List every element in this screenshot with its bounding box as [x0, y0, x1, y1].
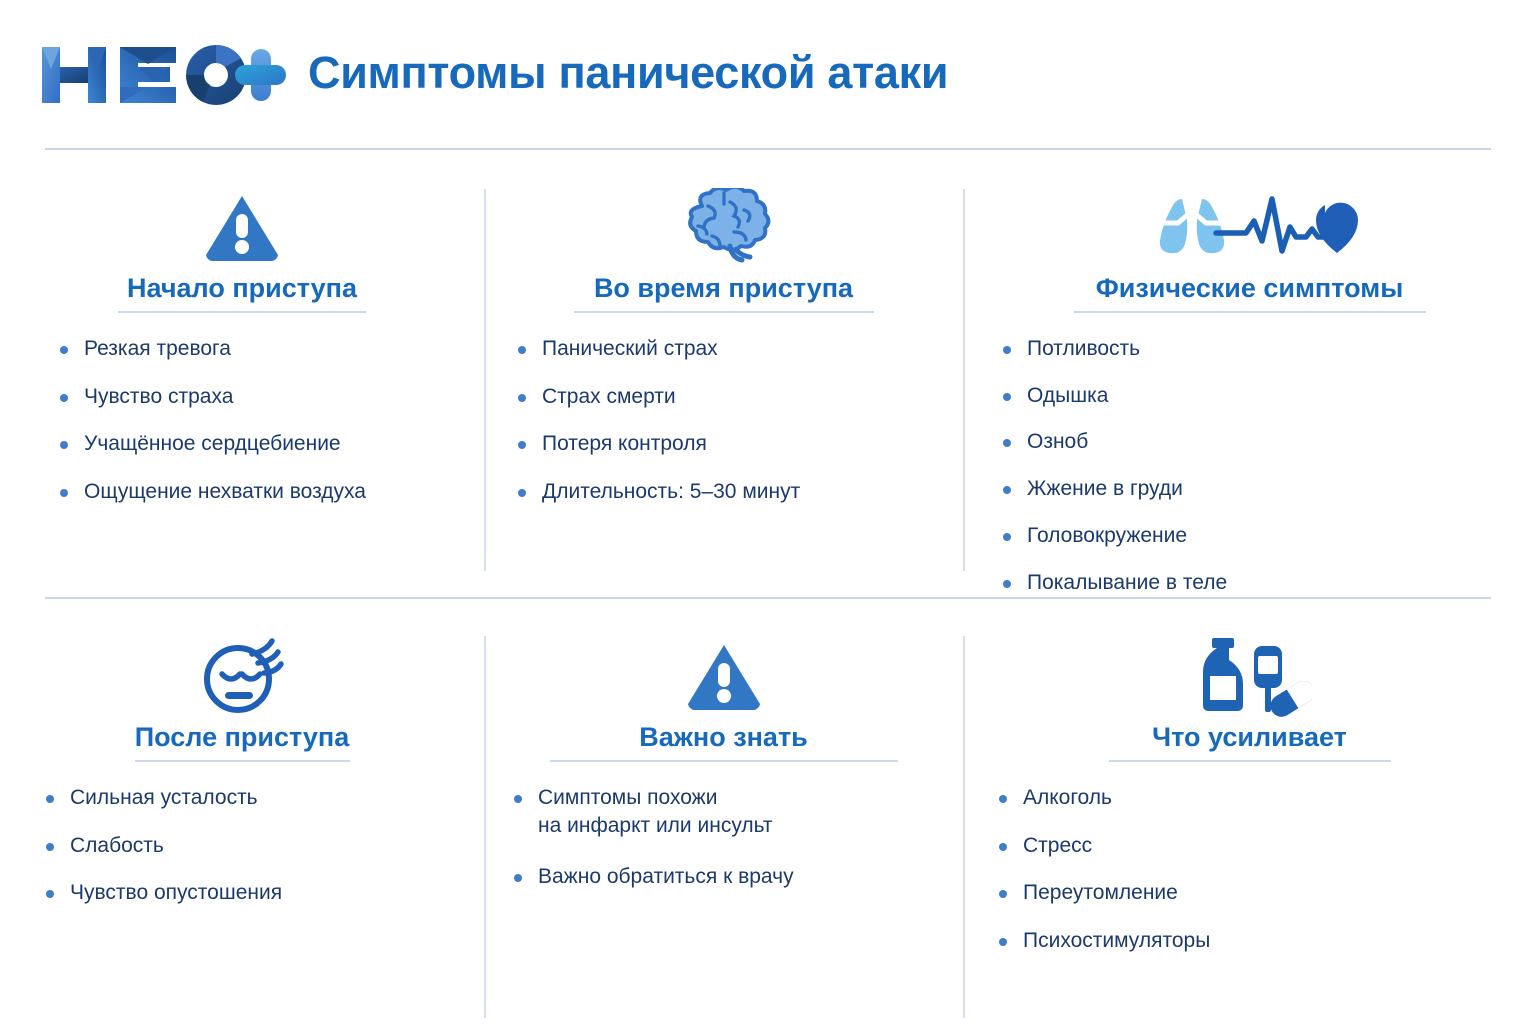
card-heading: Во время приступа	[484, 273, 963, 313]
list-item: Жжение в груди	[1001, 475, 1536, 503]
card-title: Во время приступа	[594, 273, 853, 304]
card-fizicheskie-simptomy: Физические симптомы Потливость Одышка Оз…	[963, 149, 1536, 597]
list-item: Чувство страха	[58, 383, 484, 411]
warning-triangle-icon	[484, 636, 963, 718]
list-item: Потливость	[1001, 335, 1536, 363]
card-heading: Начало приступа	[0, 273, 484, 313]
brain-icon	[484, 187, 963, 269]
symptom-list: Потливость Одышка Озноб Жжение в груди Г…	[1001, 335, 1536, 596]
list-item: Слабость	[44, 832, 484, 860]
list-item: Алкоголь	[997, 784, 1536, 812]
card-title: Начало приступа	[127, 273, 357, 304]
list-item: Переутомление	[997, 879, 1536, 907]
card-heading: Важно знать	[484, 722, 963, 762]
list-item: Сильная усталость	[44, 784, 484, 812]
card-heading: Физические симптомы	[963, 273, 1536, 313]
symptom-list: Резкая тревога Чувство страха Учащённое …	[58, 335, 484, 506]
list-item: Потеря контроля	[516, 430, 963, 458]
card-title: После приступа	[135, 722, 350, 753]
list-item: Длительность: 5–30 минут	[516, 478, 963, 506]
card-chto-usilivaet: Что усиливает Алкоголь Стресс Переутомле…	[963, 598, 1536, 1024]
infographic-page: Симптомы панической атаки Начало прис	[0, 0, 1536, 1024]
list-item: Учащённое сердцебиение	[58, 430, 484, 458]
list-item: Резкая тревога	[58, 335, 484, 363]
list-item: Головокружение	[1001, 522, 1536, 550]
card-posle-pristupa: После приступа Сильная усталость Слабост…	[0, 598, 484, 1024]
warning-triangle-icon	[0, 187, 484, 269]
list-item: Ощущение нехватки воздуха	[58, 478, 484, 506]
list-item: Симптомы похожи на инфаркт или инсульт	[512, 784, 963, 839]
title-underline	[550, 760, 898, 762]
symptom-list: Сильная усталость Слабость Чувство опуст…	[44, 784, 484, 907]
symptom-list: Алкоголь Стресс Переутомление Психостиму…	[997, 784, 1536, 955]
page-title: Симптомы панической атаки	[308, 50, 948, 99]
card-heading: После приступа	[0, 722, 484, 762]
list-item: Важно обратиться к врачу	[512, 863, 963, 891]
list-item: Страх смерти	[516, 383, 963, 411]
cards-row-bottom: После приступа Сильная усталость Слабост…	[0, 598, 1536, 1024]
title-underline	[118, 311, 366, 313]
list-item: Озноб	[1001, 428, 1536, 456]
list-item: Одышка	[1001, 382, 1536, 410]
lungs-heartbeat-heart-icon	[963, 187, 1536, 269]
symptom-list: Панический страх Страх смерти Потеря кон…	[516, 335, 963, 506]
title-underline	[135, 760, 350, 762]
cards-grid: Начало приступа Резкая тревога Чувство с…	[0, 149, 1536, 1024]
card-vazhno-znat: Важно знать Симптомы похожи на инфаркт и…	[484, 598, 963, 1024]
cards-row-top: Начало приступа Резкая тревога Чувство с…	[0, 149, 1536, 597]
card-title: Физические симптомы	[1096, 273, 1404, 304]
neo-plus-logo	[38, 39, 286, 111]
card-heading: Что усиливает	[963, 722, 1536, 762]
title-underline	[574, 311, 874, 313]
title-underline	[1074, 311, 1426, 313]
list-item: Стресс	[997, 832, 1536, 860]
list-item: Панический страх	[516, 335, 963, 363]
title-underline	[1109, 760, 1391, 762]
list-item: Психостимуляторы	[997, 927, 1536, 955]
tired-face-icon	[0, 636, 484, 718]
list-item: Чувство опустошения	[44, 879, 484, 907]
card-vo-vremya-pristupa: Во время приступа Панический страх Страх…	[484, 149, 963, 597]
list-item: Покалывание в теле	[1001, 569, 1536, 597]
card-title: Важно знать	[639, 722, 808, 753]
header: Симптомы панической атаки	[0, 0, 1536, 149]
card-title: Что усиливает	[1152, 722, 1347, 753]
bottle-pills-icon	[963, 636, 1536, 718]
card-nachalo-pristupa: Начало приступа Резкая тревога Чувство с…	[0, 149, 484, 597]
symptom-list: Симптомы похожи на инфаркт или инсульт В…	[512, 784, 963, 891]
